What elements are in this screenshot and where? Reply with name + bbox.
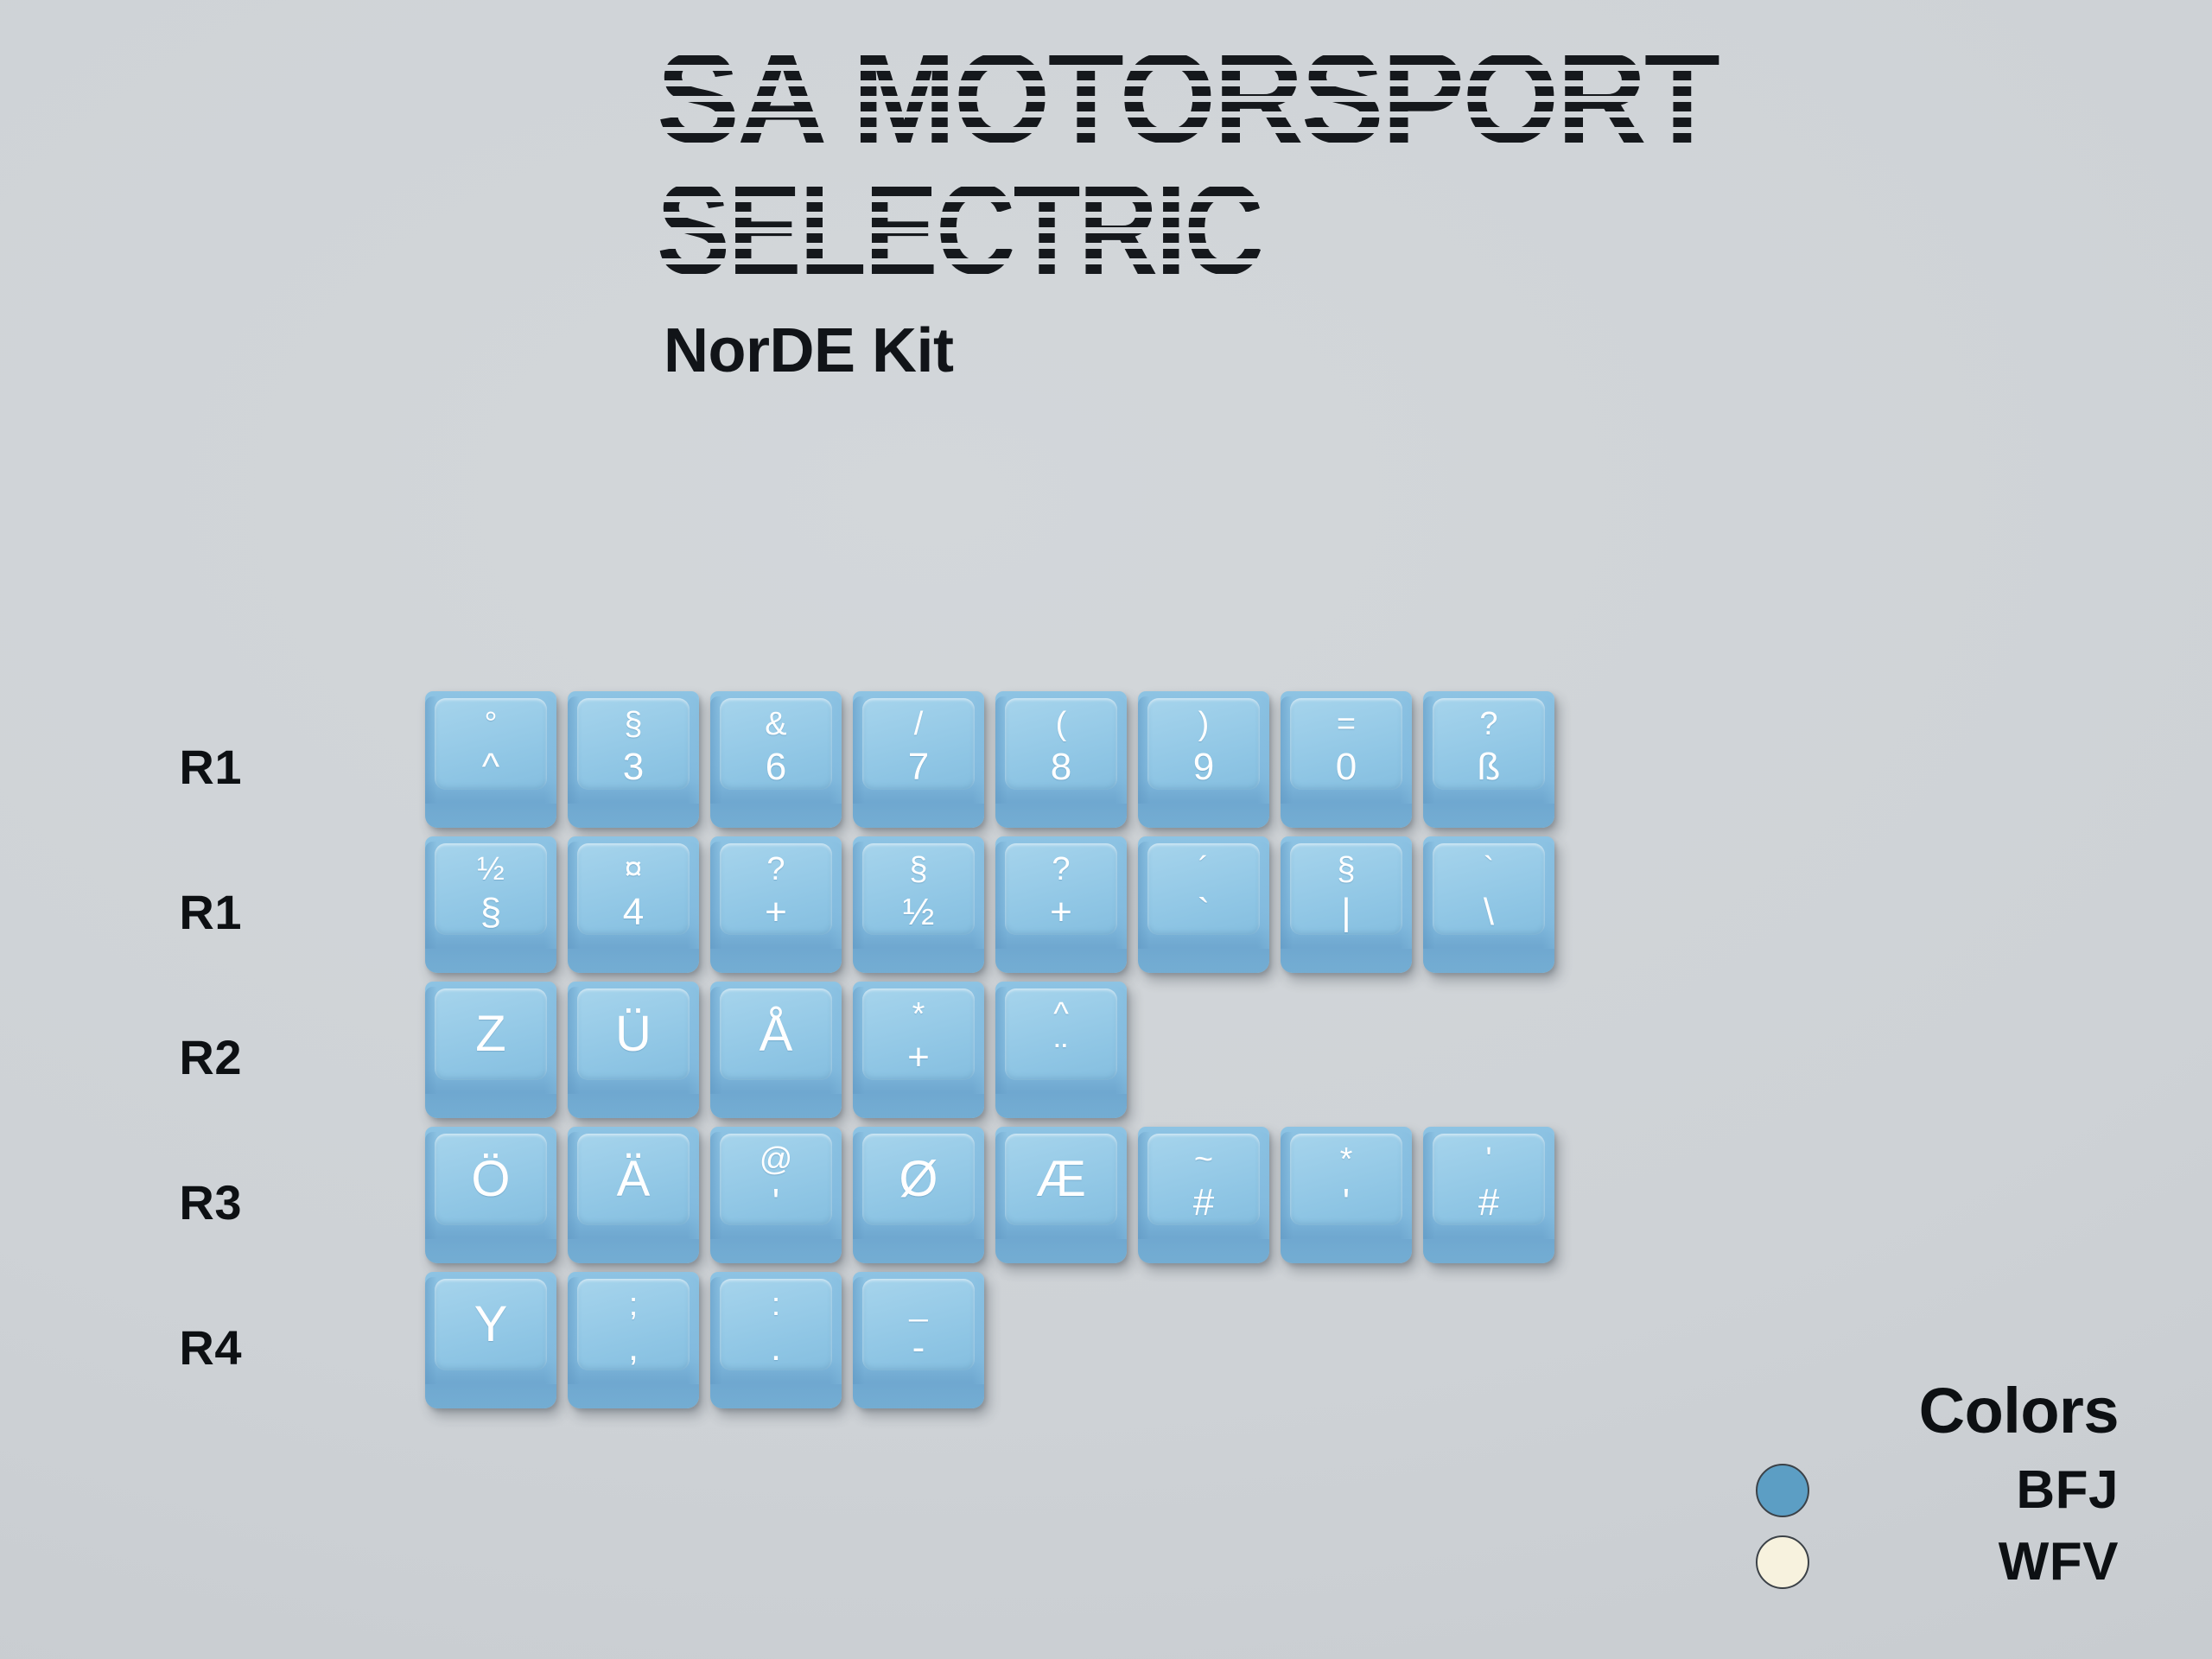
keycap-r0-c4[interactable]: (8 <box>995 691 1127 828</box>
poster-subtitle: NorDE Kit <box>664 315 954 386</box>
row-label-r1b: R1 <box>86 884 242 940</box>
keycap-legend-bottom: Æ <box>1036 1154 1086 1205</box>
keycap-legend-bottom: ½ <box>903 893 935 931</box>
keycap-r2-c2[interactable]: Å <box>710 982 842 1118</box>
keycap-r0-c1[interactable]: §3 <box>568 691 699 828</box>
keycap-legend-bottom: - <box>912 1329 925 1367</box>
keycap-legend-top: ½ <box>477 853 505 886</box>
keycap-legend-top: * <box>1340 1143 1353 1176</box>
keycap-legend-bottom: 4 <box>623 893 644 931</box>
keycap-legend-bottom: ^ <box>482 748 500 786</box>
keycap-surface: )9 <box>1147 698 1261 790</box>
keycap-r2-c1[interactable]: Ü <box>568 982 699 1118</box>
keycap-surface: ?ß <box>1433 698 1546 790</box>
keycap-surface: `\ <box>1433 843 1546 935</box>
keycap-r1-c2[interactable]: ?+ <box>710 836 842 973</box>
keycap-surface: ?+ <box>720 843 833 935</box>
keycap-legend-bottom: | <box>1341 893 1351 931</box>
color-legend-row-bfj: BFJ <box>1756 1459 2119 1521</box>
keycap-r4-c1[interactable]: ;, <box>568 1272 699 1408</box>
keycap-legend-bottom: 8 <box>1051 748 1071 786</box>
keycap-r3-c2[interactable]: @' <box>710 1127 842 1263</box>
title-line-1: SA MOTORSPORT <box>657 24 1745 158</box>
keycap-r0-c6[interactable]: =0 <box>1281 691 1412 828</box>
keycap-r1-c0[interactable]: ½§ <box>425 836 556 973</box>
keycap-surface: =0 <box>1290 698 1403 790</box>
keycap-legend-bottom: Ü <box>615 1009 652 1059</box>
keycap-r2-c0[interactable]: Z <box>425 982 556 1118</box>
color-label-wfv: WFV <box>1999 1531 2119 1592</box>
keycap-legend-bottom: # <box>1478 1184 1499 1222</box>
keycap-legend-top: * <box>912 998 925 1031</box>
keycap-r1-c6[interactable]: §| <box>1281 836 1412 973</box>
colors-legend: Colors BFJ WFV <box>1756 1374 2119 1592</box>
keycap-surface: Ä <box>577 1134 690 1225</box>
keycap-surface: &6 <box>720 698 833 790</box>
keycap-legend-top: : <box>772 1288 781 1321</box>
keycap-surface: Y <box>435 1279 548 1370</box>
keycap-legend-bottom: ` <box>1198 893 1211 931</box>
keycap-r3-c4[interactable]: Æ <box>995 1127 1127 1263</box>
keycap-surface: §3 <box>577 698 690 790</box>
keycap-surface: /7 <box>862 698 976 790</box>
title-line-1-svg: SA MOTORSPORT <box>657 24 1719 158</box>
keycap-legend-top: ° <box>484 708 497 741</box>
keycap-r0-c7[interactable]: ?ß <box>1423 691 1554 828</box>
keycap-legend-top: @ <box>760 1143 793 1176</box>
keycap-legend-bottom: § <box>480 893 501 931</box>
keycap-surface: *+ <box>862 988 976 1080</box>
keycap-legend-bottom: 7 <box>908 748 929 786</box>
keycap-r1-c5[interactable]: ´` <box>1138 836 1269 973</box>
title-line-1-text: SA MOTORSPORT <box>657 25 1719 170</box>
keycap-surface: ~# <box>1147 1134 1261 1225</box>
keycap-legend-top: ; <box>629 1288 639 1321</box>
keycap-r0-c2[interactable]: &6 <box>710 691 842 828</box>
keycap-legend-bottom: 3 <box>623 748 644 786</box>
keycap-legend-bottom: ß <box>1478 748 1501 786</box>
keycap-legend-bottom: + <box>907 1039 930 1077</box>
keycap-surface: §| <box>1290 843 1403 935</box>
keycap-legend-top: _ <box>909 1288 927 1321</box>
color-swatch-wfv <box>1756 1535 1809 1589</box>
keycap-surface: ?+ <box>1005 843 1118 935</box>
title-line-2-svg: SELECTRIC <box>657 158 1719 288</box>
keycap-r2-c4[interactable]: ^¨ <box>995 982 1127 1118</box>
title-line-2-text: SELECTRIC <box>657 156 1262 302</box>
keycap-r1-c4[interactable]: ?+ <box>995 836 1127 973</box>
row-label-r4: R4 <box>86 1319 242 1376</box>
keycap-legend-top: ? <box>766 853 785 886</box>
keycap-legend-top: ) <box>1198 708 1210 741</box>
keycap-surface: ´` <box>1147 843 1261 935</box>
keycap-surface: '# <box>1433 1134 1546 1225</box>
keycap-legend-top: ^ <box>1053 998 1069 1031</box>
row-label-r2: R2 <box>86 1029 242 1085</box>
keycap-r4-c0[interactable]: Y <box>425 1272 556 1408</box>
keycap-r3-c1[interactable]: Ä <box>568 1127 699 1263</box>
keycap-legend-top: ¤ <box>624 853 642 886</box>
keycap-legend-bottom: + <box>765 893 787 931</box>
keycap-surface: ^¨ <box>1005 988 1118 1080</box>
keycap-legend-bottom: Ö <box>471 1154 510 1205</box>
keycap-r2-c3[interactable]: *+ <box>853 982 984 1118</box>
keycap-r0-c3[interactable]: /7 <box>853 691 984 828</box>
keycap-r1-c7[interactable]: `\ <box>1423 836 1554 973</box>
keycap-legend-bottom: Z <box>475 1009 505 1059</box>
keycap-surface: _- <box>862 1279 976 1370</box>
keycap-legend-top: ~ <box>1194 1143 1213 1176</box>
keycap-legend-top: = <box>1337 708 1356 741</box>
keycap-surface: :. <box>720 1279 833 1370</box>
keycap-r3-c7[interactable]: '# <box>1423 1127 1554 1263</box>
keycap-surface: *' <box>1290 1134 1403 1225</box>
keycap-legend-bottom: Ø <box>899 1154 938 1205</box>
keycap-legend-bottom: Y <box>474 1300 508 1350</box>
keycap-legend-bottom: Å <box>760 1009 793 1059</box>
keycap-surface: Ö <box>435 1134 548 1225</box>
keycap-r3-c6[interactable]: *' <box>1281 1127 1412 1263</box>
keycap-legend-top: § <box>1337 853 1355 886</box>
keycap-surface: Å <box>720 988 833 1080</box>
keycap-r4-c2[interactable]: :. <box>710 1272 842 1408</box>
keycap-r1-c1[interactable]: ¤4 <box>568 836 699 973</box>
keycap-legend-bottom: + <box>1050 893 1072 931</box>
keycap-legend-bottom: # <box>1193 1184 1214 1222</box>
keycap-surface: ¤4 <box>577 843 690 935</box>
keycap-legend-top: & <box>765 708 786 741</box>
title-line-2: SELECTRIC <box>657 158 1745 288</box>
keycap-r3-c5[interactable]: ~# <box>1138 1127 1269 1263</box>
color-legend-row-wfv: WFV <box>1756 1531 2119 1592</box>
colors-legend-title: Colors <box>1756 1374 2119 1447</box>
keycap-legend-top: ´ <box>1198 853 1210 886</box>
keycap-surface: §½ <box>862 843 976 935</box>
keycap-legend-top: ' <box>1485 1143 1491 1176</box>
row-label-r3: R3 <box>86 1174 242 1230</box>
keycap-legend-top: ? <box>1052 853 1070 886</box>
keycap-r4-c3[interactable]: _- <box>853 1272 984 1408</box>
keycap-legend-bottom: 6 <box>766 748 786 786</box>
keycap-legend-top: § <box>624 708 642 741</box>
keycap-legend-top: ( <box>1056 708 1067 741</box>
color-label-bfj: BFJ <box>2016 1459 2119 1521</box>
keycap-r0-c5[interactable]: )9 <box>1138 691 1269 828</box>
keycap-legend-bottom: Ä <box>617 1154 651 1205</box>
poster-canvas: SA MOTORSPORT <box>0 0 2212 1659</box>
keycap-surface: (8 <box>1005 698 1118 790</box>
keycap-legend-bottom: \ <box>1484 893 1494 931</box>
poster-title: SA MOTORSPORT <box>657 24 1745 288</box>
keycap-legend-top: / <box>914 708 924 741</box>
keycap-legend-top: ? <box>1479 708 1497 741</box>
keycap-legend-bottom: ' <box>1343 1184 1350 1222</box>
keycap-surface: ½§ <box>435 843 548 935</box>
color-swatch-bfj <box>1756 1464 1809 1517</box>
keycap-surface: Æ <box>1005 1134 1118 1225</box>
keycap-legend-bottom: ¨ <box>1055 1039 1068 1077</box>
keycap-legend-bottom: 9 <box>1193 748 1214 786</box>
keycap-r3-c3[interactable]: Ø <box>853 1127 984 1263</box>
keycap-legend-top: ` <box>1484 853 1495 886</box>
keycap-r0-c0[interactable]: °^ <box>425 691 556 828</box>
keycap-surface: Ø <box>862 1134 976 1225</box>
keycap-r1-c3[interactable]: §½ <box>853 836 984 973</box>
row-label-r1a: R1 <box>86 739 242 795</box>
keycap-surface: °^ <box>435 698 548 790</box>
keycap-legend-bottom: , <box>628 1329 639 1367</box>
keycap-surface: Z <box>435 988 548 1080</box>
keycap-legend-bottom: 0 <box>1336 748 1357 786</box>
keycap-surface: Ü <box>577 988 690 1080</box>
keycap-legend-bottom: . <box>771 1329 781 1367</box>
keycap-legend-bottom: ' <box>772 1184 779 1222</box>
keycap-surface: ;, <box>577 1279 690 1370</box>
keycap-legend-top: § <box>909 853 927 886</box>
keycap-surface: @' <box>720 1134 833 1225</box>
keycap-r3-c0[interactable]: Ö <box>425 1127 556 1263</box>
